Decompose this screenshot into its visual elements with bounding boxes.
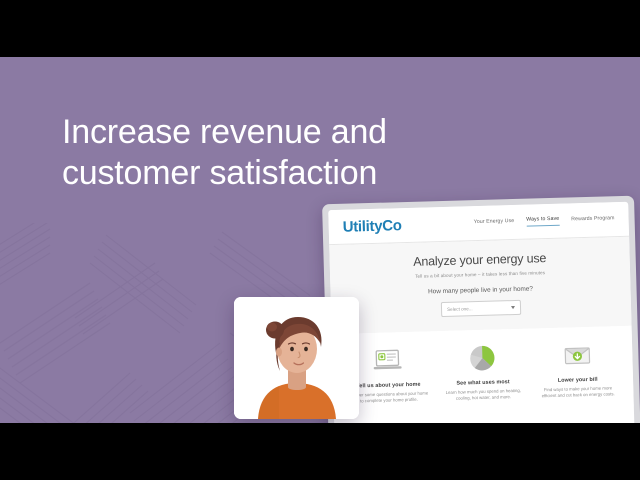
feature-cards: Tell us about your home Answer some ques… [332, 326, 634, 416]
site-nav: Your Energy Use Ways to Save Rewards Pro… [474, 214, 615, 228]
feature-card-title: Tell us about your home [348, 381, 429, 389]
hero-question: How many people live in your home? [330, 283, 630, 298]
envelope-download-icon [536, 339, 617, 371]
hero-panel: Analyze your energy use Tell us a bit ab… [329, 237, 631, 334]
slide-stage: Increase revenue and customer satisfacti… [0, 0, 640, 480]
household-size-select[interactable]: Select one... [441, 300, 521, 317]
select-value: Select one... [447, 306, 473, 312]
feature-card-description: Learn how much you spend on heating, coo… [443, 388, 524, 403]
nav-item-ways-to-save[interactable]: Ways to Save [526, 216, 559, 227]
presentation-slide: Increase revenue and customer satisfacti… [0, 57, 640, 423]
feature-card-see-what-uses-most[interactable]: See what uses most Learn how much you sp… [435, 342, 531, 403]
pie-chart-icon [442, 342, 523, 374]
feature-card-description: Answer some questions about your home to… [348, 390, 429, 405]
feature-card-description: Find ways to make your home more efficie… [538, 385, 619, 400]
page-title: Increase revenue and customer satisfacti… [62, 112, 387, 195]
letterbox-top [0, 0, 640, 57]
laptop-form-icon [347, 344, 428, 376]
utilityco-logo: UtilityCo [342, 217, 401, 236]
feature-card-title: See what uses most [443, 379, 524, 387]
feature-card-title: Lower your bill [537, 376, 618, 384]
chevron-down-icon [511, 306, 515, 309]
nav-item-your-energy-use[interactable]: Your Energy Use [474, 217, 515, 227]
feature-card-lower-your-bill[interactable]: Lower your bill Find ways to make your h… [529, 339, 625, 400]
hero-title: Analyze your energy use [330, 249, 630, 271]
letterbox-bottom [0, 423, 640, 480]
persona-card [234, 297, 359, 419]
browser-screen: UtilityCo Your Energy Use Ways to Save R… [328, 202, 635, 423]
nav-item-rewards-program[interactable]: Rewards Program [571, 215, 615, 225]
laptop-browser-mock: UtilityCo Your Energy Use Ways to Save R… [322, 196, 640, 423]
person-illustration [234, 297, 359, 419]
